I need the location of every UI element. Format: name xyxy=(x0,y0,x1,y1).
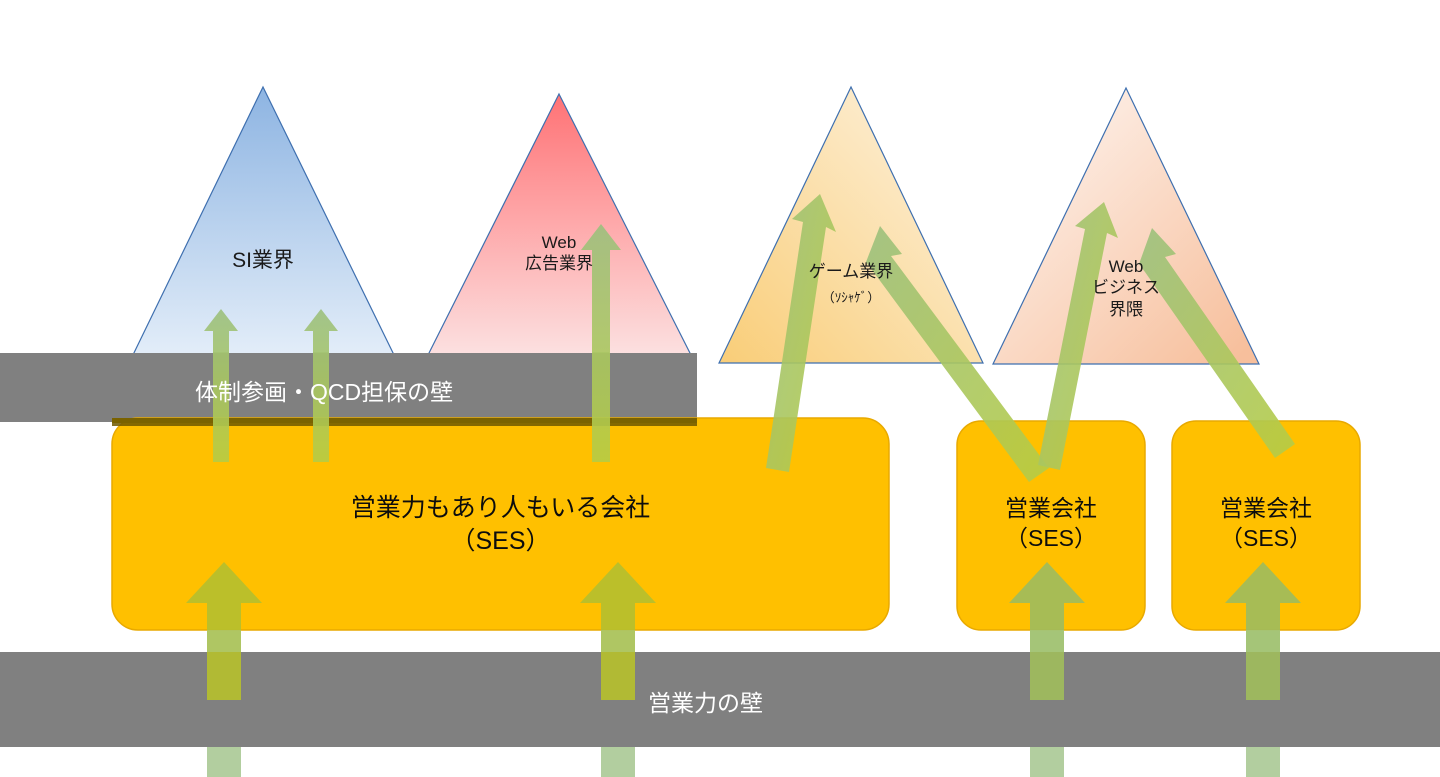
triangle-game xyxy=(719,87,983,363)
triangle-web-biz xyxy=(993,88,1259,364)
wall-label-sales: 営業力の壁 xyxy=(648,684,763,718)
wall-label-qcd: 体制参画・QCD担保の壁 xyxy=(195,373,453,407)
box-label-ses-big: 営業力もあり人もいる会社 （SES） xyxy=(112,492,889,557)
triangle-si xyxy=(131,87,396,359)
triangle-web-ad xyxy=(426,94,693,359)
box-label-ses-right: 営業会社 （SES） xyxy=(1172,494,1360,554)
box-label-ses-mid: 営業会社 （SES） xyxy=(957,494,1145,554)
diagram-canvas: SI業界 Web 広告業界 ゲーム業界 （ｿｼｬｹﾞ） Web ビジネス 界隈 … xyxy=(0,0,1440,777)
arrow-tails-below-wall xyxy=(207,747,1280,777)
arrow-gap-segments xyxy=(207,630,1280,652)
